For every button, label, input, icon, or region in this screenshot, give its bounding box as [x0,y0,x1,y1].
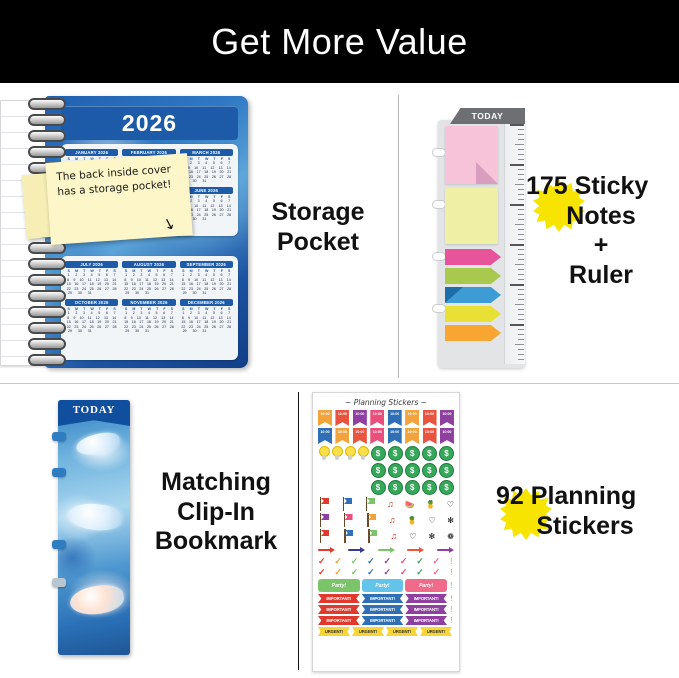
sticker-row: URGENT!URGENT!URGENT!URGENT! [318,627,454,636]
banner-time: 10:00 [355,412,364,427]
decor-icon: 🍉 [405,500,415,509]
money-coin-icon: $ [439,446,454,461]
header-banner: Get More Value [0,0,679,83]
flag-icon [342,529,354,543]
banner-time: 10:00 [355,430,364,445]
important-sticker: IMPORTANT! [405,616,447,625]
flag-icon [366,529,378,543]
money-coin-icon: $ [371,480,386,495]
sticker-row: $$$$$ [318,480,454,495]
flag-icon [341,497,353,511]
caption-line: Matching [140,468,292,498]
urgent-label: URGENT! [427,629,445,634]
banner-sticker: 10:00 [388,410,402,426]
decor-icon: ♡ [429,516,436,525]
checkmark-icon: ✓ [318,557,326,566]
page-curl-icon [476,162,498,184]
sticker-row: Party!Party!Party!! [318,579,454,592]
banner-time: 10:00 [373,412,382,427]
money-coin-icon: $ [371,446,386,461]
year-label: 2026 [122,110,177,137]
checkmark-icon: ✓ [416,568,424,577]
arrow-icon: ↘ [161,213,179,234]
banner-time: 10:00 [320,430,329,445]
month-label: OCTOBER 2026 [65,299,118,306]
bookmark-today-tab: TODAY [58,400,130,426]
music-note-icon: ♫ [387,499,394,509]
planner-illustration: 2026 JANUARY 2026SMTWTFS1234567891011121… [0,96,248,368]
sticker-row: $$$$$ [318,463,454,478]
sticker-row: ✓✓✓✓✓✓✓✓! [318,557,454,566]
fish-icon [68,582,125,617]
exclamation-icon: ! [449,606,454,614]
exclamation-icon: ! [449,558,454,566]
money-coin-icon: $ [439,480,454,495]
decor-icon: ♡ [447,500,454,509]
music-note-icon: ♫ [390,531,397,541]
money-coin-icon: $ [388,446,403,461]
checkmark-icon: ✓ [384,557,392,566]
sticky-notes-illustration: TODAY [432,108,525,368]
checkmark-icon: ✓ [334,568,342,577]
sticker-sheet-title: ~ Planning Stickers ~ [318,398,454,407]
urgent-label: URGENT! [325,629,343,634]
month-label: AUGUST 2026 [122,261,175,268]
sticker-row: IMPORTANT!IMPORTANT!IMPORTANT!! [318,605,454,614]
caption-planning-stickers: 92 Planning Stickers [496,482,674,541]
banner-time: 10:00 [425,412,434,427]
banner-sticker: 10:00 [335,410,349,426]
sticky-note-callout: The back inside cover has a storage pock… [24,158,190,242]
money-coin-icon: $ [388,480,403,495]
important-label: IMPORTANT! [326,596,351,601]
ruler [504,124,525,364]
urgent-sticker: URGENT! [386,627,418,636]
product-infographic: Get More Value 2026 JANUARY 2026SMTWTFS1… [0,0,679,678]
money-coin-icon: $ [422,480,437,495]
calendar-month: OCTOBER 2026SMTWTFS123456789101112131415… [65,299,118,334]
sticky-pad-yellow [445,188,498,244]
caption-line: Bookmark [140,527,292,557]
party-sticker: Party! [362,579,404,592]
checkmark-icon: ✓ [384,568,392,577]
decor-icon: 🍍 [407,516,417,525]
flag-icon [318,513,330,527]
banner-sticker: 10:00 [423,428,437,444]
exclamation-icon: ! [449,595,454,603]
party-sticker: Party! [318,579,360,592]
lightbulb-icon [344,446,355,461]
banner-time: 10:00 [408,430,417,445]
bookmark-illustration: TODAY [58,400,130,655]
bookmark-clip [52,468,66,477]
banner-sticker: 10:00 [318,428,332,444]
caption-line: Planning [531,482,637,510]
money-coin-icon: $ [422,463,437,478]
banner-sticker: 10:00 [423,410,437,426]
important-label: IMPORTANT! [414,596,439,601]
today-tab-label: TODAY [472,111,504,121]
exclamation-icon: ! [449,569,454,577]
decor-icon: ❁ [447,532,454,541]
urgent-sticker: URGENT! [420,627,452,636]
calendar-panel-bottom: JULY 2026SMTWTFS123456789101112131415161… [61,256,238,360]
sticker-row [318,545,454,555]
exclamation-icon: ! [449,617,454,625]
bookmark-clip [52,432,66,441]
banner-sticker: 10:00 [370,428,384,444]
banner-time: 10:00 [373,430,382,445]
calendar-month: AUGUST 2026SMTWTFS1234567891011121314151… [122,261,175,296]
music-note-icon: ♫ [389,515,396,525]
banner-sticker: 10:00 [388,428,402,444]
arrow-sticker [348,545,365,555]
today-tab: TODAY [450,108,525,124]
calendar-month: JULY 2026SMTWTFS123456789101112131415161… [65,261,118,296]
sticky-pad-pink [445,126,498,184]
checkmark-icon: ✓ [334,557,342,566]
caption-sticky-notes: 175 Sticky Notes + Ruler [526,172,676,290]
caption-line: Notes [526,202,676,232]
fish-icon [74,430,121,459]
sticky-count: 175 [526,172,568,200]
money-coin-icon: $ [422,446,437,461]
important-label: IMPORTANT! [370,607,395,612]
month-label: DECEMBER 2026 [180,299,233,306]
lightbulb-icon [331,446,342,461]
sticky-note-front: The back inside cover has a storage pock… [45,153,192,245]
arrow-sticker [318,545,335,555]
important-sticker: IMPORTANT! [362,616,404,625]
sticky-flag-yellow [445,306,501,322]
party-sticker: Party! [405,579,447,592]
banner-sticker: 10:00 [353,410,367,426]
important-sticker: IMPORTANT! [362,605,404,614]
caption-line: + [526,231,676,261]
caption-line: Storage [248,198,388,228]
important-sticker: IMPORTANT! [318,616,360,625]
money-coin-icon: $ [439,463,454,478]
sticker-row: IMPORTANT!IMPORTANT!IMPORTANT!! [318,594,454,603]
exclamation-icon: ! [449,582,454,590]
decor-icon: ✻ [428,532,435,541]
sticker-row: ♫🍉🍍♡ [318,497,454,511]
checkmark-icon: ✓ [400,557,408,566]
caption-line: Stickers [496,512,674,542]
important-label: IMPORTANT! [326,618,351,623]
page-title: Get More Value [211,21,467,63]
lightbulb-icon [357,446,368,461]
checkmark-icon: ✓ [351,557,359,566]
urgent-sticker: URGENT! [352,627,384,636]
month-label: NOVEMBER 2026 [122,299,175,306]
banner-time: 10:00 [408,412,417,427]
sticker-sheet: ~ Planning Stickers ~ 10:0010:0010:0010:… [312,392,460,672]
calendar-month: SEPTEMBER 2026SMTWTFS1234567891011121314… [180,261,233,296]
important-sticker: IMPORTANT! [318,594,360,603]
sticker-banner-row: 10:0010:0010:0010:0010:0010:0010:0010:00 [318,428,454,444]
sticky-flag-pink [445,249,501,265]
banner-time: 10:00 [338,430,347,445]
urgent-label: URGENT! [359,629,377,634]
caption-bookmark: Matching Clip-In Bookmark [140,468,292,557]
bookmark-clip [52,540,66,549]
banner-sticker: 10:00 [440,428,454,444]
caption-storage-pocket: Storage Pocket [248,198,388,257]
money-coin-icon: $ [405,446,420,461]
decor-icon: 🍍 [426,500,436,509]
caption-line: Clip-In [140,498,292,528]
sticker-row: ♫♡✻❁ [318,529,454,543]
checkmark-icon: ✓ [318,568,326,577]
decor-icon: ✻ [447,516,454,525]
urgent-label: URGENT! [393,629,411,634]
flag-icon [365,513,377,527]
sticker-banner-row: 10:0010:0010:0010:0010:0010:0010:0010:00 [318,410,454,426]
important-label: IMPORTANT! [370,618,395,623]
flag-icon [318,497,330,511]
calendar-month: DECEMBER 2026SMTWTFS12345678910111213141… [180,299,233,334]
sticky-flag-blue [445,287,501,303]
arrow-sticker [407,545,424,555]
banner-sticker: 10:00 [353,428,367,444]
money-coin-icon: $ [405,463,420,478]
checkmark-icon: ✓ [367,568,375,577]
checkmark-icon: ✓ [433,557,441,566]
checkmark-icon: ✓ [400,568,408,577]
sticker-row: $$$$$ [318,446,454,461]
checkmark-icon: ✓ [433,568,441,577]
sticky-note-text: The back inside cover has a storage pock… [56,162,182,201]
checkmark-icon: ✓ [416,557,424,566]
banner-sticker: 10:00 [335,428,349,444]
money-coin-icon: $ [405,480,420,495]
banner-sticker: 10:00 [370,410,384,426]
important-label: IMPORTANT! [414,618,439,623]
decor-icon: ♡ [409,532,416,541]
caption-line: Ruler [526,261,676,291]
banner-time: 10:00 [390,430,399,445]
important-sticker: IMPORTANT! [405,605,447,614]
important-sticker: IMPORTANT! [318,605,360,614]
banner-time: 10:00 [320,412,329,427]
important-label: IMPORTANT! [370,596,395,601]
sticker-count: 92 [496,482,524,510]
party-label: Party! [419,583,433,589]
month-label: JULY 2026 [65,261,118,268]
bookmark-today-label: TODAY [73,404,116,416]
flag-icon [342,513,354,527]
month-label: SEPTEMBER 2026 [180,261,233,268]
fish-icon [67,501,123,533]
banner-time: 10:00 [425,430,434,445]
calendar-month: NOVEMBER 2026SMTWTFS12345678910111213141… [122,299,175,334]
banner-sticker: 10:00 [405,428,419,444]
sticker-row: ✓✓✓✓✓✓✓✓! [318,568,454,577]
sticker-row: IMPORTANT!IMPORTANT!IMPORTANT!! [318,616,454,625]
party-label: Party! [332,583,346,589]
banner-sticker: 10:00 [318,410,332,426]
arrow-sticker [437,545,454,555]
caption-line: Sticky [575,172,649,200]
caption-line: Pocket [248,228,388,258]
banner-time: 10:00 [338,412,347,427]
important-sticker: IMPORTANT! [405,594,447,603]
money-coin-icon: $ [371,463,386,478]
flag-icon [318,529,330,543]
sticker-row: ♫🍍♡✻ [318,513,454,527]
month-label: JANUARY 2026 [65,149,118,156]
bookmark-clip [52,578,66,587]
banner-time: 10:00 [390,412,399,427]
banner-time: 10:00 [442,412,451,427]
sticky-flag-green [445,268,501,284]
month-label: MARCH 2026 [180,149,233,156]
lightbulb-icon [318,446,329,461]
checkmark-icon: ✓ [351,568,359,577]
sticky-flag-orange [445,325,501,341]
year-bar: 2026 [61,106,238,140]
banner-sticker: 10:00 [440,410,454,426]
money-coin-icon: $ [388,463,403,478]
checkmark-icon: ✓ [367,557,375,566]
arrow-sticker [378,545,395,555]
important-label: IMPORTANT! [414,607,439,612]
important-sticker: IMPORTANT! [362,594,404,603]
flag-icon [364,497,376,511]
urgent-sticker: URGENT! [318,627,350,636]
binder-rings [432,148,444,318]
banner-time: 10:00 [442,430,451,445]
party-label: Party! [375,583,389,589]
important-label: IMPORTANT! [326,607,351,612]
banner-sticker: 10:00 [405,410,419,426]
